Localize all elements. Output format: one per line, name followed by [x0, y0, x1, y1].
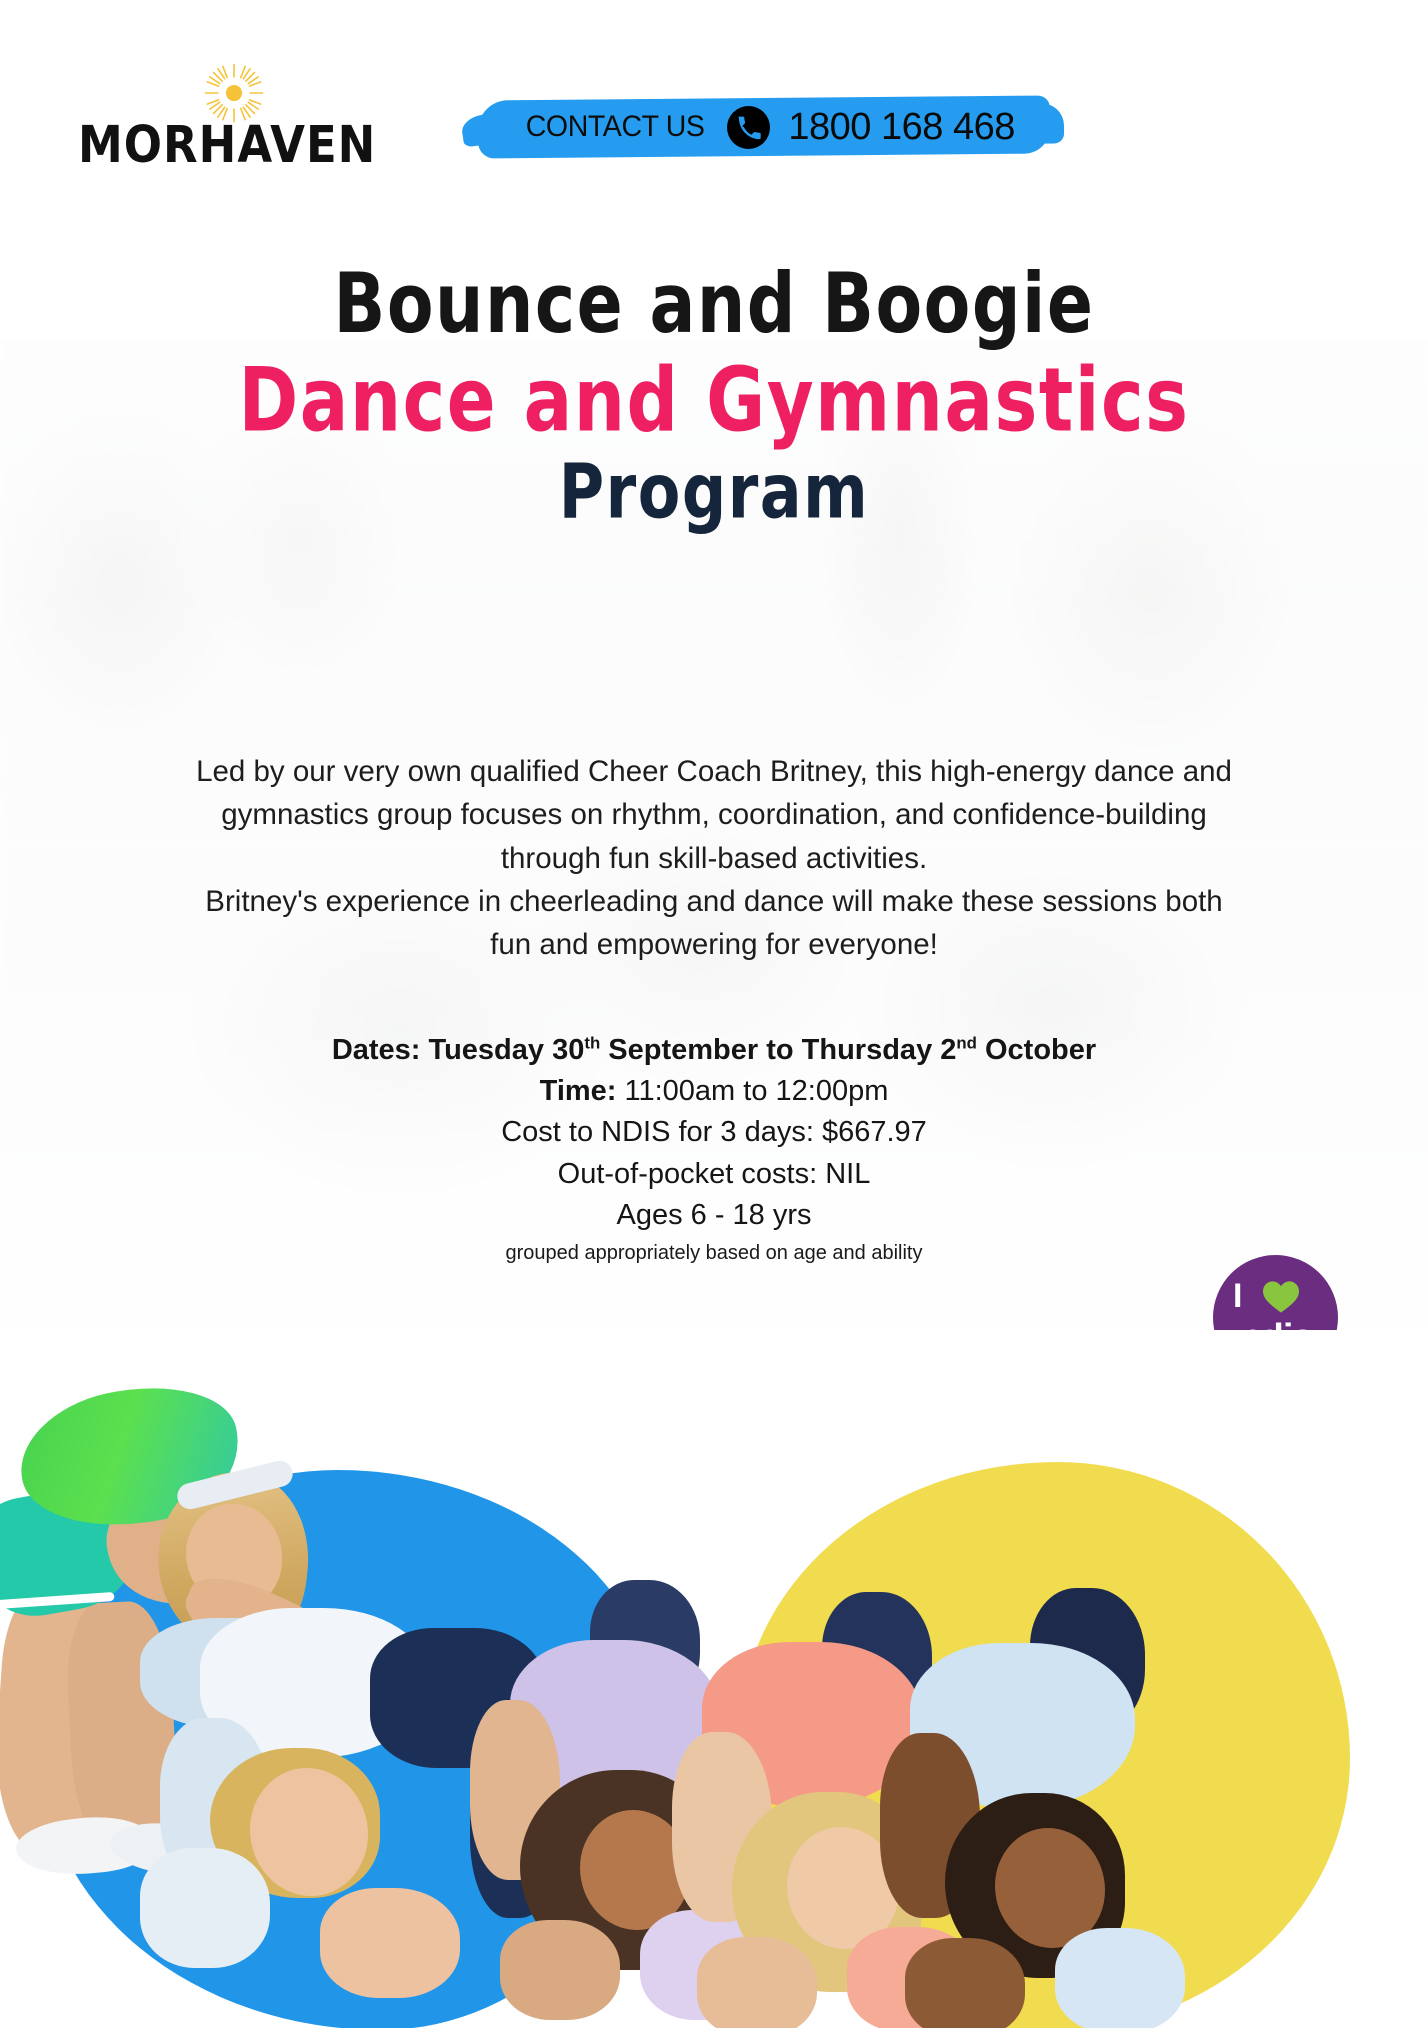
title-line-3: Program: [0, 453, 1428, 532]
ndis-i-letter: I: [1233, 1277, 1242, 1316]
detail-out-of-pocket: Out-of-pocket costs: NIL: [95, 1154, 1333, 1195]
title-line-2: Dance and Gymnastics: [0, 354, 1428, 445]
description-paragraph: Led by our very own qualified Cheer Coac…: [95, 750, 1333, 967]
description-line-1: Led by our very own qualified Cheer Coac…: [95, 750, 1333, 793]
contact-us-label: CONTACT US: [526, 110, 705, 144]
description-line-5: fun and empowering for everyone!: [95, 923, 1333, 966]
time-value: 11:00am to 12:00pm: [616, 1075, 888, 1107]
detail-ages: Ages 6 - 18 yrs: [95, 1195, 1333, 1236]
dates-value-c: October: [977, 1034, 1096, 1066]
dates-ordinal-b: nd: [956, 1033, 977, 1052]
poster-root: MORHAVEN CONTACT US 1800 168 468 Bounce …: [0, 0, 1428, 2028]
dates-value-b: September to Thursday 2: [600, 1034, 956, 1066]
title-line-1: Bounce and Boogie: [0, 262, 1428, 348]
detail-ages-note: grouped appropriately based on age and a…: [95, 1242, 1333, 1265]
phone-icon: [727, 106, 770, 149]
poster-title-group: Bounce and Boogie Dance and Gymnastics P…: [0, 270, 1428, 524]
brand-logo: MORHAVEN: [78, 62, 348, 172]
detail-cost: Cost to NDIS for 3 days: $667.97: [95, 1112, 1333, 1153]
program-details: Dates: Tuesday 30th September to Thursda…: [95, 1030, 1333, 1265]
description-line-3: through fun skill-based activities.: [95, 837, 1333, 880]
contact-phone-number[interactable]: 1800 168 468: [788, 106, 1014, 149]
contact-banner[interactable]: CONTACT US 1800 168 468: [478, 92, 1058, 162]
description-line-4: Britney's experience in cheerleading and…: [95, 880, 1333, 923]
detail-dates: Dates: Tuesday 30th September to Thursda…: [95, 1030, 1333, 1071]
brand-name: MORHAVEN: [78, 115, 348, 174]
heart-icon: [1261, 1279, 1301, 1315]
time-label: Time:: [540, 1075, 617, 1107]
description-line-2: gymnastics group focuses on rhythm, coor…: [95, 793, 1333, 836]
dates-value-a: Tuesday 30: [420, 1034, 584, 1066]
dates-ordinal-a: th: [584, 1033, 600, 1052]
detail-time: Time: 11:00am to 12:00pm: [95, 1071, 1333, 1112]
photo-collage: [0, 1330, 1428, 2028]
child-figure-4-photo: [880, 1588, 1210, 2028]
dates-label: Dates:: [332, 1034, 421, 1066]
